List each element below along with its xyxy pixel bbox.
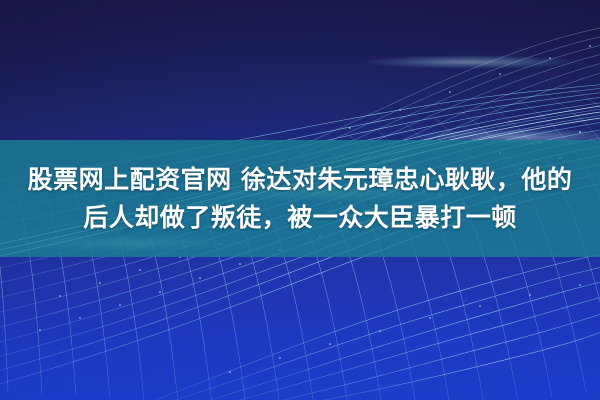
caption-line-2: 后人却做了叛徒，被一众大臣暴打一顿 xyxy=(83,199,517,237)
caption-band: 股票网上配资官网 徐达对朱元璋忠心耿耿，他的 后人却做了叛徒，被一众大臣暴打一顿 xyxy=(0,140,600,257)
stock-news-banner: 股票网上配资官网 徐达对朱元璋忠心耿耿，他的 后人却做了叛徒，被一众大臣暴打一顿 xyxy=(0,0,600,400)
caption-line-1: 股票网上配资官网 徐达对朱元璋忠心耿耿，他的 xyxy=(28,161,573,199)
